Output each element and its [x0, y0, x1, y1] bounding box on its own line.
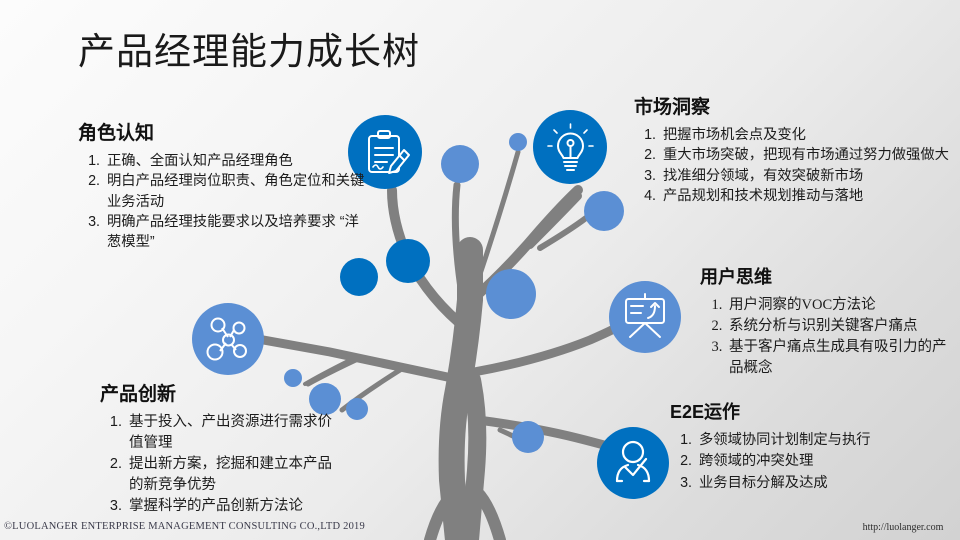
list-item: 产品规划和技术规划推动与落地: [660, 186, 956, 206]
footer-copyright: ©LUOLANGER ENTERPRISE MANAGEMENT CONSULT…: [4, 521, 365, 532]
presentation-growth-icon: [609, 281, 681, 353]
list-item: 明确产品经理技能要求以及培养要求 “洋葱模型”: [104, 212, 368, 253]
leaf-dot: [486, 269, 536, 319]
list-item: 用户洞察的VOC方法论: [726, 295, 950, 316]
list-item: 正确、全面认知产品经理角色: [104, 151, 368, 171]
list-item: 系统分析与识别关键客户痛点: [726, 316, 950, 337]
leaf-dot: [441, 145, 479, 183]
leaf-dot: [340, 258, 378, 296]
list-item: 多领域协同计划制定与执行: [696, 430, 950, 451]
lightbulb-icon: [533, 110, 607, 184]
section-heading-e2e-operation: E2E运作: [670, 398, 950, 424]
section-list-user-thinking: 用户洞察的VOC方法论 系统分析与识别关键客户痛点 基于客户痛点生成具有吸引力的…: [700, 295, 950, 380]
section-list-market-insight: 把握市场机会点及变化 重大市场突破，把现有市场通过努力做强做大 找准细分领域，有…: [634, 125, 956, 206]
leaf-dot: [512, 421, 544, 453]
list-item: 业务目标分解及达成: [696, 473, 950, 494]
section-heading-role-cognition: 角色认知: [78, 118, 368, 145]
person-check-icon: [597, 427, 669, 499]
footer-url: http://luolanger.com: [862, 522, 944, 535]
page-title: 产品经理能力成长树: [78, 32, 420, 73]
section-heading-product-innovation: 产品创新: [100, 379, 340, 406]
section-list-e2e-operation: 多领域协同计划制定与执行 跨领域的冲突处理 业务目标分解及达成: [670, 430, 950, 494]
leaf-dot: [346, 398, 368, 420]
section-product-innovation: 产品创新 基于投入、产出资源进行需求价值管理 提出新方案，挖掘和建立本产品的新竞…: [100, 379, 340, 516]
section-role-cognition: 角色认知 正确、全面认知产品经理角色 明白产品经理岗位职责、角色定位和关键业务活…: [78, 118, 368, 252]
slide-canvas: 产品经理能力成长树 角色认知 正确、全面认知产品经理角色 明白产品经理岗位职责、…: [0, 0, 960, 540]
leaf-dot: [509, 133, 527, 151]
list-item: 提出新方案，挖掘和建立本产品的新竞争优势: [126, 454, 340, 496]
list-item: 找准细分领域，有效突破新市场: [660, 166, 956, 186]
list-item: 重大市场突破，把现有市场通过努力做强做大: [660, 145, 956, 165]
list-item: 掌握科学的产品创新方法论: [126, 496, 340, 517]
list-item: 跨领域的冲突处理: [696, 451, 950, 472]
section-list-product-innovation: 基于投入、产出资源进行需求价值管理 提出新方案，挖掘和建立本产品的新竞争优势 掌…: [100, 412, 340, 516]
section-e2e-operation: E2E运作 多领域协同计划制定与执行 跨领域的冲突处理 业务目标分解及达成: [670, 398, 950, 494]
list-item: 把握市场机会点及变化: [660, 125, 956, 145]
list-item: 基于客户痛点生成具有吸引力的产品概念: [726, 337, 950, 379]
section-market-insight: 市场洞察 把握市场机会点及变化 重大市场突破，把现有市场通过努力做强做大 找准细…: [634, 92, 956, 206]
leaf-dot: [386, 239, 430, 283]
leaf-dot: [584, 191, 624, 231]
list-item: 明白产品经理岗位职责、角色定位和关键业务活动: [104, 171, 368, 212]
network-nodes-icon: [192, 303, 264, 375]
section-heading-user-thinking: 用户思维: [700, 263, 950, 289]
section-list-role-cognition: 正确、全面认知产品经理角色 明白产品经理岗位职责、角色定位和关键业务活动 明确产…: [78, 151, 368, 252]
section-heading-market-insight: 市场洞察: [634, 92, 956, 119]
section-user-thinking: 用户思维 用户洞察的VOC方法论 系统分析与识别关键客户痛点 基于客户痛点生成具…: [700, 263, 950, 380]
list-item: 基于投入、产出资源进行需求价值管理: [126, 412, 340, 454]
